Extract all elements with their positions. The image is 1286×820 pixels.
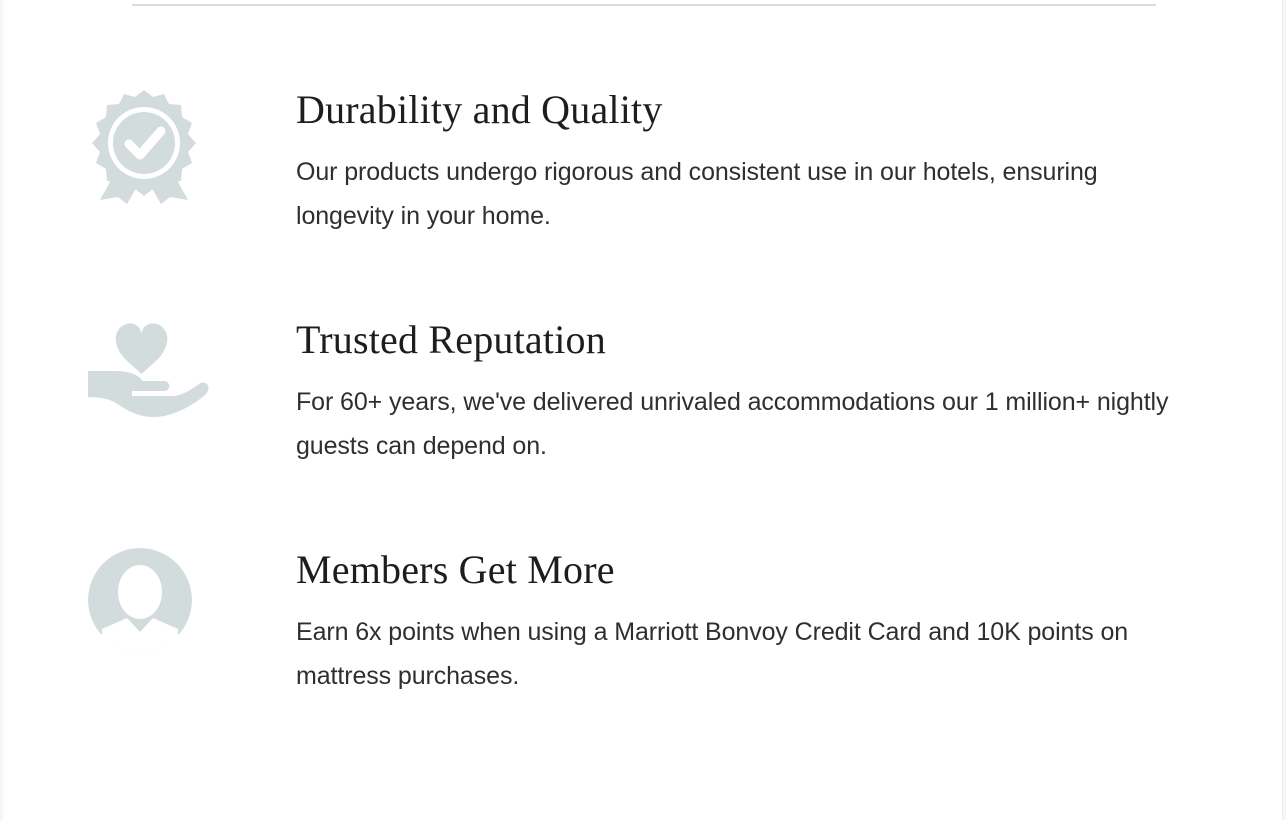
feature-description: Our products undergo rigorous and consis…	[296, 150, 1193, 238]
feature-item: Trusted Reputation For 60+ years, we've …	[3, 316, 1283, 546]
section-divider	[132, 4, 1156, 6]
feature-description: For 60+ years, we've delivered unrivaled…	[296, 380, 1193, 468]
feature-description: Earn 6x points when using a Marriott Bon…	[296, 610, 1193, 698]
feature-title: Trusted Reputation	[296, 316, 1193, 364]
feature-text: Members Get More Earn 6x points when usi…	[296, 546, 1283, 698]
award-ribbon-check-icon	[3, 86, 296, 204]
feature-title: Durability and Quality	[296, 86, 1193, 134]
member-avatar-icon	[3, 546, 296, 652]
feature-title: Members Get More	[296, 546, 1193, 594]
feature-item: Durability and Quality Our products unde…	[3, 86, 1283, 316]
hand-holding-heart-icon	[3, 316, 296, 418]
feature-list: Durability and Quality Our products unde…	[3, 86, 1283, 776]
feature-text: Trusted Reputation For 60+ years, we've …	[296, 316, 1283, 468]
feature-text: Durability and Quality Our products unde…	[296, 86, 1283, 238]
feature-item: Members Get More Earn 6x points when usi…	[3, 546, 1283, 776]
feature-list-page: Durability and Quality Our products unde…	[3, 0, 1283, 820]
